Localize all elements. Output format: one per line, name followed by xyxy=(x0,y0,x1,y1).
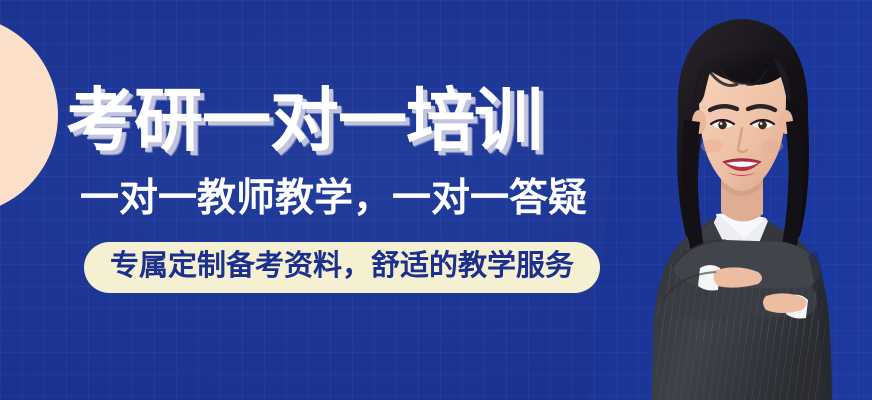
hair-back xyxy=(677,19,809,246)
cuff-lower xyxy=(786,295,808,319)
hair-side xyxy=(682,120,804,292)
dress-shirt xyxy=(712,212,773,290)
feature-pill: 专属定制备考资料，舒适的教学服务 xyxy=(84,242,600,293)
neck xyxy=(721,176,763,222)
page-title: 考研一对一培训 xyxy=(66,86,586,155)
cuff-upper xyxy=(698,265,720,291)
peach-circle-decoration xyxy=(0,15,58,215)
hand-lower xyxy=(763,293,807,313)
diagonal-band-light xyxy=(588,0,872,400)
eyebrows xyxy=(710,106,775,110)
hand-upper xyxy=(713,267,762,287)
cheek-left xyxy=(701,139,723,153)
hair-front xyxy=(695,42,790,104)
subheadline: 一对一教师教学，一对一答疑 xyxy=(80,179,586,220)
blazer xyxy=(640,200,850,400)
promo-banner: 考研一对一培训 一对一教师教学，一对一答疑 专属定制备考资料，舒适的教学服务 xyxy=(0,0,872,400)
blazer-shadow xyxy=(808,250,832,400)
crossed-arms xyxy=(640,240,850,340)
eyes xyxy=(711,120,774,129)
copy-block: 考研一对一培训 一对一教师教学，一对一答疑 专属定制备考资料，舒适的教学服务 xyxy=(66,86,586,293)
diagonal-band-dark xyxy=(793,0,872,400)
nose xyxy=(738,128,747,152)
blazer-lapels xyxy=(694,219,794,302)
cheek-right xyxy=(761,139,783,153)
instructor-photo xyxy=(560,0,872,400)
face xyxy=(692,50,793,191)
mouth xyxy=(723,159,761,176)
